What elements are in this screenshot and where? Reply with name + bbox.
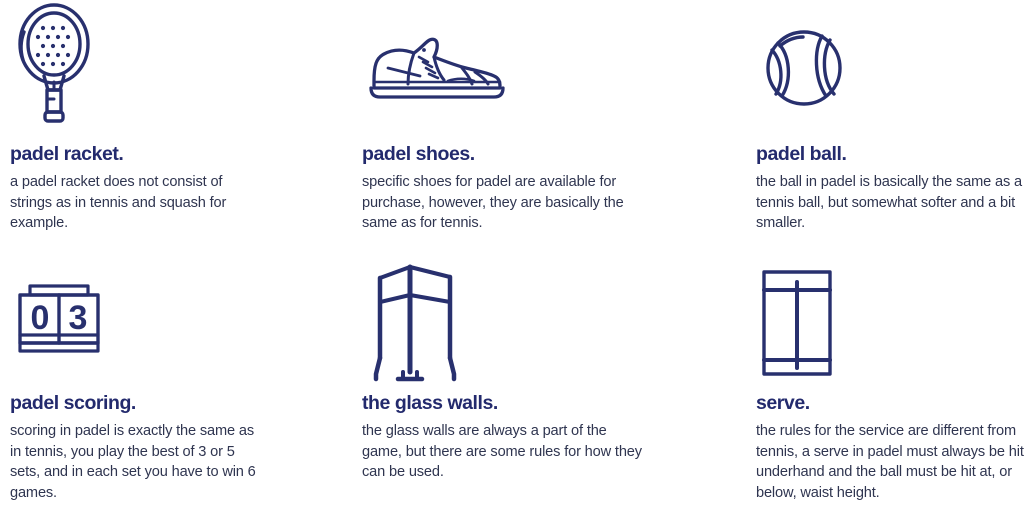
card-text-block: serve. the rules for the service are dif… — [756, 392, 1024, 503]
scoreboard-left-digit: 0 — [31, 299, 50, 337]
card-text-block: padel scoring. scoring in padel is exact… — [10, 392, 347, 503]
card-glass-walls: the glass walls. the glass walls are alw… — [351, 254, 728, 509]
card-body: the glass walls are always a part of the… — [362, 421, 647, 483]
infographic-board: padel racket. a padel racket does not co… — [0, 0, 1024, 509]
padel-racket-icon — [10, 0, 102, 130]
card-serve: serve. the rules for the service are dif… — [728, 254, 1024, 509]
card-heading: padel racket. — [10, 143, 347, 165]
card-body: a padel racket does not consist of strin… — [10, 172, 236, 234]
card-text-block: padel shoes. specific shoes for padel ar… — [362, 143, 724, 234]
card-heading: padel ball. — [756, 143, 1024, 165]
card-heading: padel scoring. — [10, 392, 347, 414]
scoreboard-right-digit: 3 — [69, 299, 88, 337]
card-padel-scoring: 0 3 padel scoring. scoring in padel is e… — [0, 254, 351, 509]
padel-court-icon — [756, 254, 848, 393]
card-body: specific shoes for padel are available f… — [362, 172, 652, 234]
card-text-block: padel racket. a padel racket does not co… — [10, 143, 347, 234]
scoreboard-icon: 0 3 — [10, 254, 110, 407]
card-padel-racket: padel racket. a padel racket does not co… — [0, 0, 351, 254]
card-body: the ball in padel is basically the same … — [756, 172, 1024, 234]
card-heading: padel shoes. — [362, 143, 724, 165]
card-text-block: padel ball. the ball in padel is basical… — [756, 143, 1024, 234]
card-padel-shoes: padel shoes. specific shoes for padel ar… — [351, 0, 728, 254]
cards-grid: padel racket. a padel racket does not co… — [0, 0, 1024, 509]
glass-wall-structure-icon — [362, 254, 474, 387]
card-heading: the glass walls. — [362, 392, 724, 414]
padel-ball-icon — [756, 0, 856, 148]
card-padel-ball: padel ball. the ball in padel is basical… — [728, 0, 1024, 254]
card-heading: serve. — [756, 392, 1024, 414]
card-body: the rules for the service are different … — [756, 421, 1024, 503]
padel-shoe-icon — [362, 0, 506, 156]
card-body: scoring in padel is exactly the same as … — [10, 421, 268, 503]
card-text-block: the glass walls. the glass walls are alw… — [362, 392, 724, 483]
